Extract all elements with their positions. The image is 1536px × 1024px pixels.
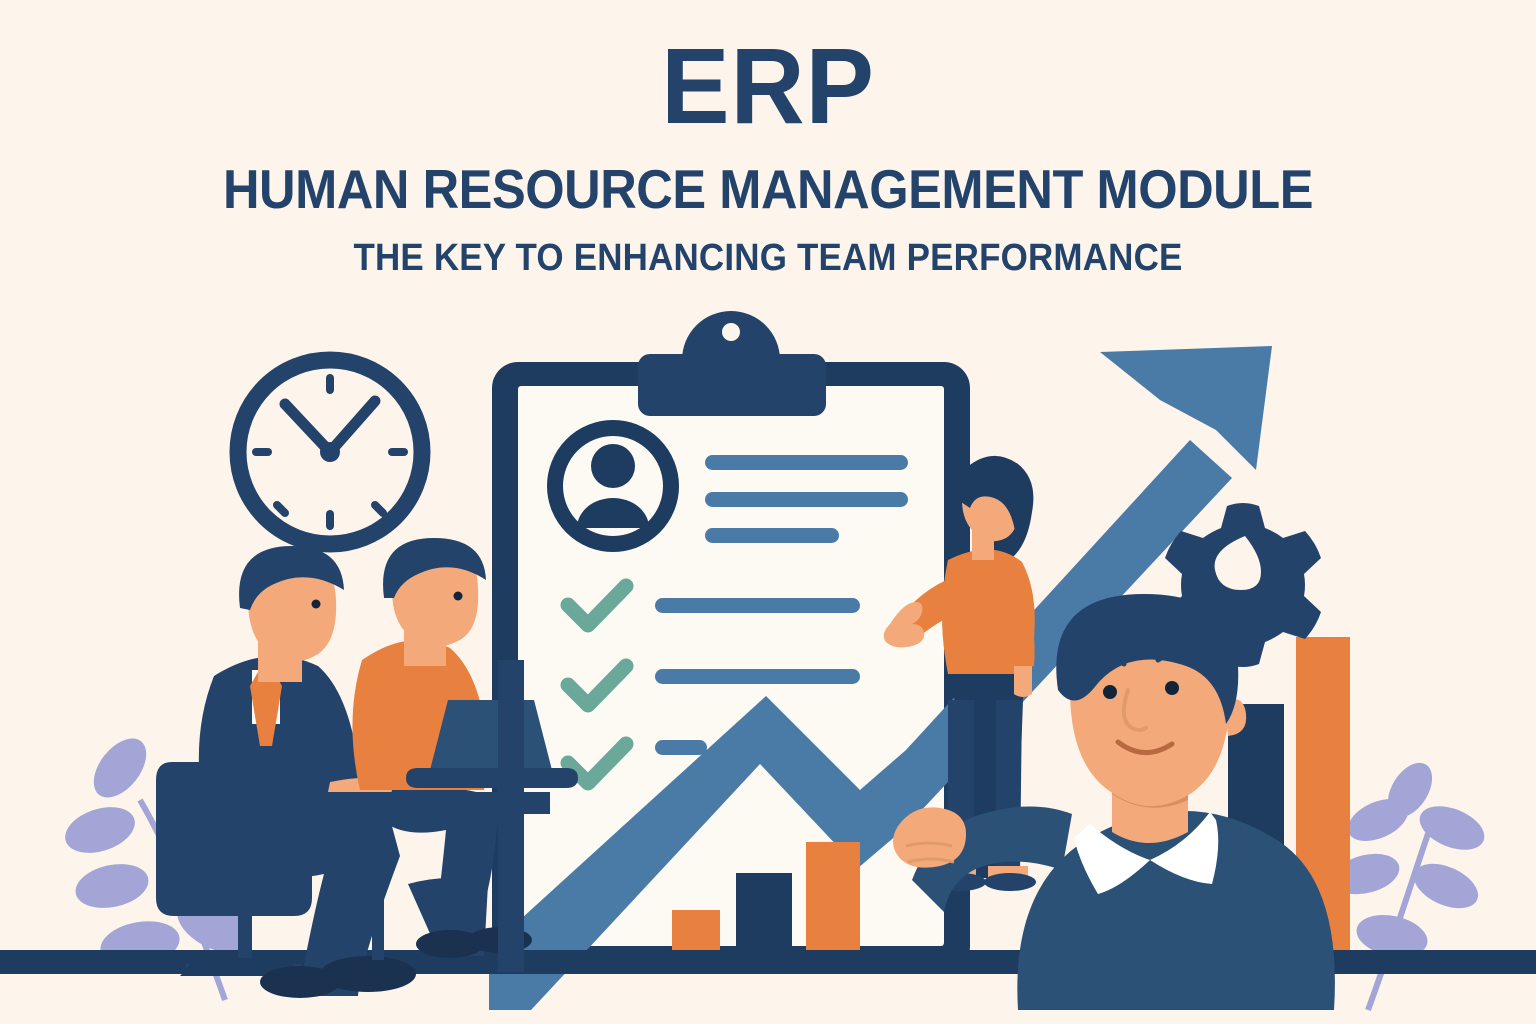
wall-clock <box>238 360 422 544</box>
eye <box>1165 681 1179 695</box>
eye <box>454 592 463 601</box>
illustration-layer <box>0 0 1536 1024</box>
shoe <box>260 966 340 998</box>
eye <box>1103 685 1117 699</box>
shoe <box>984 873 1036 891</box>
clock-minute-hand <box>330 401 375 452</box>
eye <box>312 600 321 609</box>
clipboard-clip <box>638 311 826 416</box>
poster-canvas: ERP HUMAN RESOURCE MANAGEMENT MODULE THE… <box>0 0 1536 1024</box>
